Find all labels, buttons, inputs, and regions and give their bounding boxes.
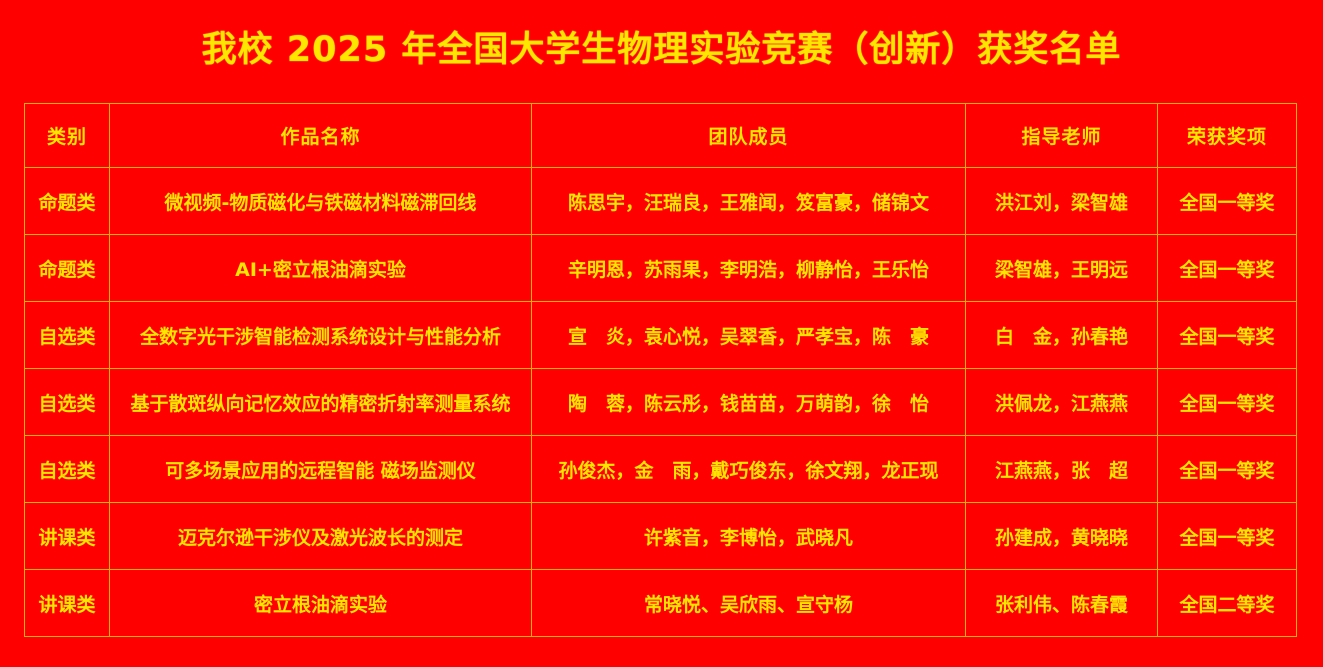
- cell-category: 命题类: [25, 235, 110, 302]
- cell-members: 孙俊杰，金 雨，戴巧俊东，徐文翔，龙正现: [532, 436, 966, 503]
- cell-category: 讲课类: [25, 570, 110, 637]
- award-table: 类别 作品名称 团队成员 指导老师 荣获奖项 命题类 微视频-物质磁化与铁磁材料…: [24, 103, 1297, 637]
- table-header: 类别 作品名称 团队成员 指导老师 荣获奖项: [25, 104, 1297, 168]
- cell-category: 自选类: [25, 369, 110, 436]
- cell-teachers: 梁智雄，王明远: [966, 235, 1158, 302]
- cell-award: 全国一等奖: [1158, 168, 1297, 235]
- cell-award: 全国一等奖: [1158, 503, 1297, 570]
- column-header-project: 作品名称: [110, 104, 532, 168]
- table-row: 讲课类 迈克尔逊干涉仪及激光波长的测定 许紫音，李博怡，武晓凡 孙建成，黄晓晓 …: [25, 503, 1297, 570]
- award-list-page: 我校 2025 年全国大学生物理实验竞赛（创新）获奖名单 类别 作品名称 团队成…: [0, 0, 1323, 667]
- cell-teachers: 孙建成，黄晓晓: [966, 503, 1158, 570]
- cell-project: 全数字光干涉智能检测系统设计与性能分析: [110, 302, 532, 369]
- table-row: 自选类 全数字光干涉智能检测系统设计与性能分析 宣 炎，袁心悦，吴翠香，严孝宝，…: [25, 302, 1297, 369]
- cell-project: 可多场景应用的远程智能 磁场监测仪: [110, 436, 532, 503]
- cell-category: 自选类: [25, 436, 110, 503]
- table-row: 自选类 可多场景应用的远程智能 磁场监测仪 孙俊杰，金 雨，戴巧俊东，徐文翔，龙…: [25, 436, 1297, 503]
- cell-project: 迈克尔逊干涉仪及激光波长的测定: [110, 503, 532, 570]
- table-header-row: 类别 作品名称 团队成员 指导老师 荣获奖项: [25, 104, 1297, 168]
- cell-award: 全国二等奖: [1158, 570, 1297, 637]
- cell-teachers: 张利伟、陈春霞: [966, 570, 1158, 637]
- column-header-teachers: 指导老师: [966, 104, 1158, 168]
- column-header-award: 荣获奖项: [1158, 104, 1297, 168]
- cell-members: 常晓悦、吴欣雨、宣守杨: [532, 570, 966, 637]
- cell-project: 微视频-物质磁化与铁磁材料磁滞回线: [110, 168, 532, 235]
- cell-teachers: 洪佩龙，江燕燕: [966, 369, 1158, 436]
- table-row: 讲课类 密立根油滴实验 常晓悦、吴欣雨、宣守杨 张利伟、陈春霞 全国二等奖: [25, 570, 1297, 637]
- table-body: 命题类 微视频-物质磁化与铁磁材料磁滞回线 陈思宇，汪瑞良，王雅闻，笈富豪，储锦…: [25, 168, 1297, 637]
- cell-project: 基于散斑纵向记忆效应的精密折射率测量系统: [110, 369, 532, 436]
- cell-teachers: 洪江刘，梁智雄: [966, 168, 1158, 235]
- cell-members: 宣 炎，袁心悦，吴翠香，严孝宝，陈 豪: [532, 302, 966, 369]
- page-title: 我校 2025 年全国大学生物理实验竞赛（创新）获奖名单: [0, 26, 1323, 74]
- cell-category: 自选类: [25, 302, 110, 369]
- cell-project: AI+密立根油滴实验: [110, 235, 532, 302]
- cell-members: 许紫音，李博怡，武晓凡: [532, 503, 966, 570]
- cell-members: 辛明恩，苏雨果，李明浩，柳静怡，王乐怡: [532, 235, 966, 302]
- table-row: 命题类 AI+密立根油滴实验 辛明恩，苏雨果，李明浩，柳静怡，王乐怡 梁智雄，王…: [25, 235, 1297, 302]
- cell-award: 全国一等奖: [1158, 235, 1297, 302]
- cell-category: 命题类: [25, 168, 110, 235]
- cell-members: 陈思宇，汪瑞良，王雅闻，笈富豪，储锦文: [532, 168, 966, 235]
- cell-members: 陶 蓉，陈云彤，钱苗苗，万萌韵，徐 怡: [532, 369, 966, 436]
- cell-category: 讲课类: [25, 503, 110, 570]
- cell-project: 密立根油滴实验: [110, 570, 532, 637]
- cell-award: 全国一等奖: [1158, 436, 1297, 503]
- cell-award: 全国一等奖: [1158, 302, 1297, 369]
- cell-teachers: 江燕燕，张 超: [966, 436, 1158, 503]
- table-row: 自选类 基于散斑纵向记忆效应的精密折射率测量系统 陶 蓉，陈云彤，钱苗苗，万萌韵…: [25, 369, 1297, 436]
- column-header-category: 类别: [25, 104, 110, 168]
- cell-teachers: 白 金，孙春艳: [966, 302, 1158, 369]
- table-row: 命题类 微视频-物质磁化与铁磁材料磁滞回线 陈思宇，汪瑞良，王雅闻，笈富豪，储锦…: [25, 168, 1297, 235]
- cell-award: 全国一等奖: [1158, 369, 1297, 436]
- column-header-members: 团队成员: [532, 104, 966, 168]
